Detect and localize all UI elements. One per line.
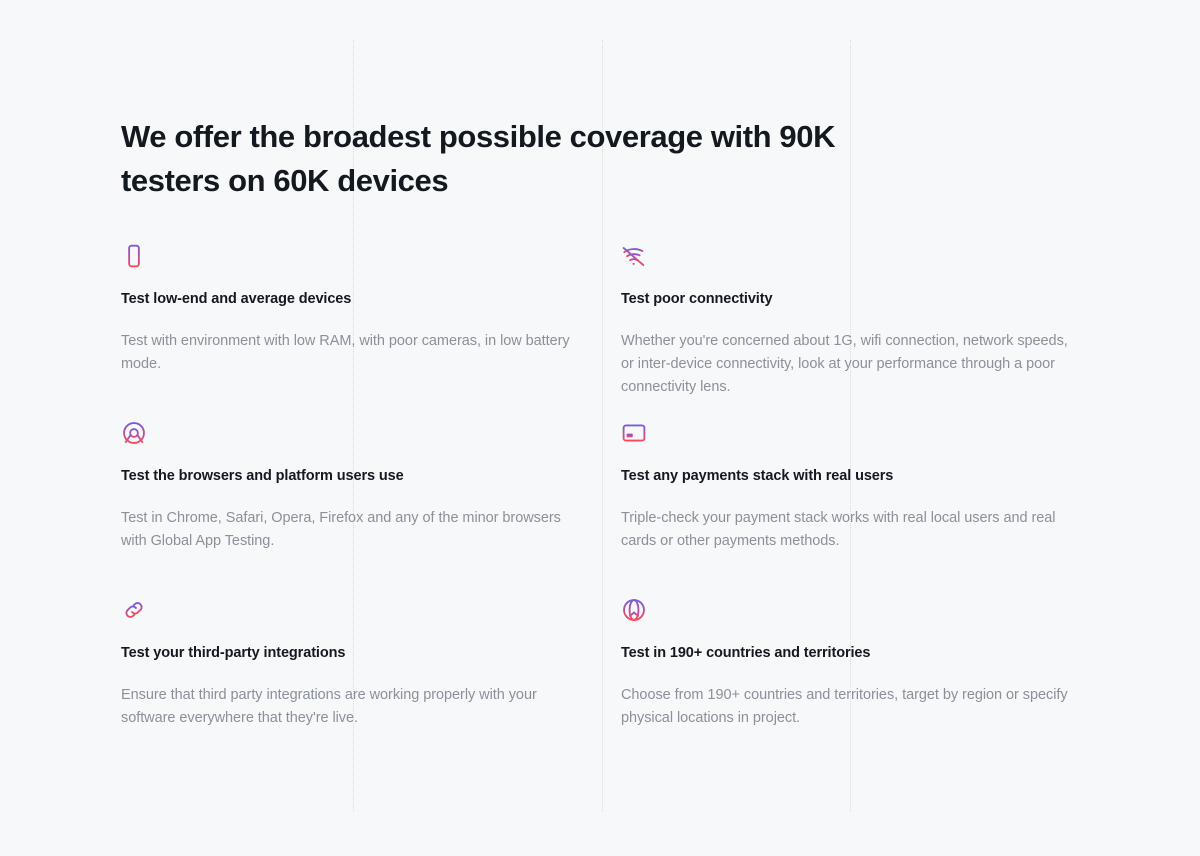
- feature-card-low-end-devices: Test low-end and average devices Test wi…: [121, 243, 591, 420]
- wifi-off-icon: [621, 243, 647, 269]
- coverage-feature-section: We offer the broadest possible coverage …: [0, 0, 1200, 856]
- feature-title: Test any payments stack with real users: [621, 466, 1096, 486]
- feature-body: Test with environment with low RAM, with…: [121, 309, 581, 376]
- feature-title: Test your third-party integrations: [121, 643, 591, 663]
- feature-card-poor-connectivity: Test poor connectivity Whether you're co…: [621, 243, 1096, 420]
- feature-row: Test the browsers and platform users use…: [121, 420, 1101, 597]
- credit-card-icon: [621, 420, 647, 446]
- feature-title: Test poor connectivity: [621, 289, 1096, 309]
- feature-row: Test low-end and average devices Test wi…: [121, 243, 1101, 420]
- feature-card-countries-territories: Test in 190+ countries and territories C…: [621, 597, 1096, 774]
- link-chain-icon: [121, 597, 147, 623]
- section-content: We offer the broadest possible coverage …: [121, 0, 1081, 203]
- feature-title: Test low-end and average devices: [121, 289, 591, 309]
- feature-card-payments-stack: Test any payments stack with real users …: [621, 420, 1096, 597]
- feature-card-browsers-platforms: Test the browsers and platform users use…: [121, 420, 591, 597]
- feature-grid: Test low-end and average devices Test wi…: [121, 243, 1101, 774]
- feature-row: Test your third-party integrations Ensur…: [121, 597, 1101, 774]
- feature-body: Ensure that third party integrations are…: [121, 663, 581, 730]
- chrome-browser-icon: [121, 420, 147, 446]
- feature-body: Test in Chrome, Safari, Opera, Firefox a…: [121, 486, 581, 553]
- globe-icon: [621, 597, 647, 623]
- feature-card-third-party-integrations: Test your third-party integrations Ensur…: [121, 597, 591, 774]
- feature-body: Whether you're concerned about 1G, wifi …: [621, 309, 1081, 399]
- feature-body: Triple-check your payment stack works wi…: [621, 486, 1081, 553]
- feature-title: Test the browsers and platform users use: [121, 466, 591, 486]
- feature-title: Test in 190+ countries and territories: [621, 643, 1096, 663]
- feature-body: Choose from 190+ countries and territori…: [621, 663, 1081, 730]
- mobile-phone-icon: [121, 243, 147, 269]
- page-title: We offer the broadest possible coverage …: [121, 0, 851, 203]
